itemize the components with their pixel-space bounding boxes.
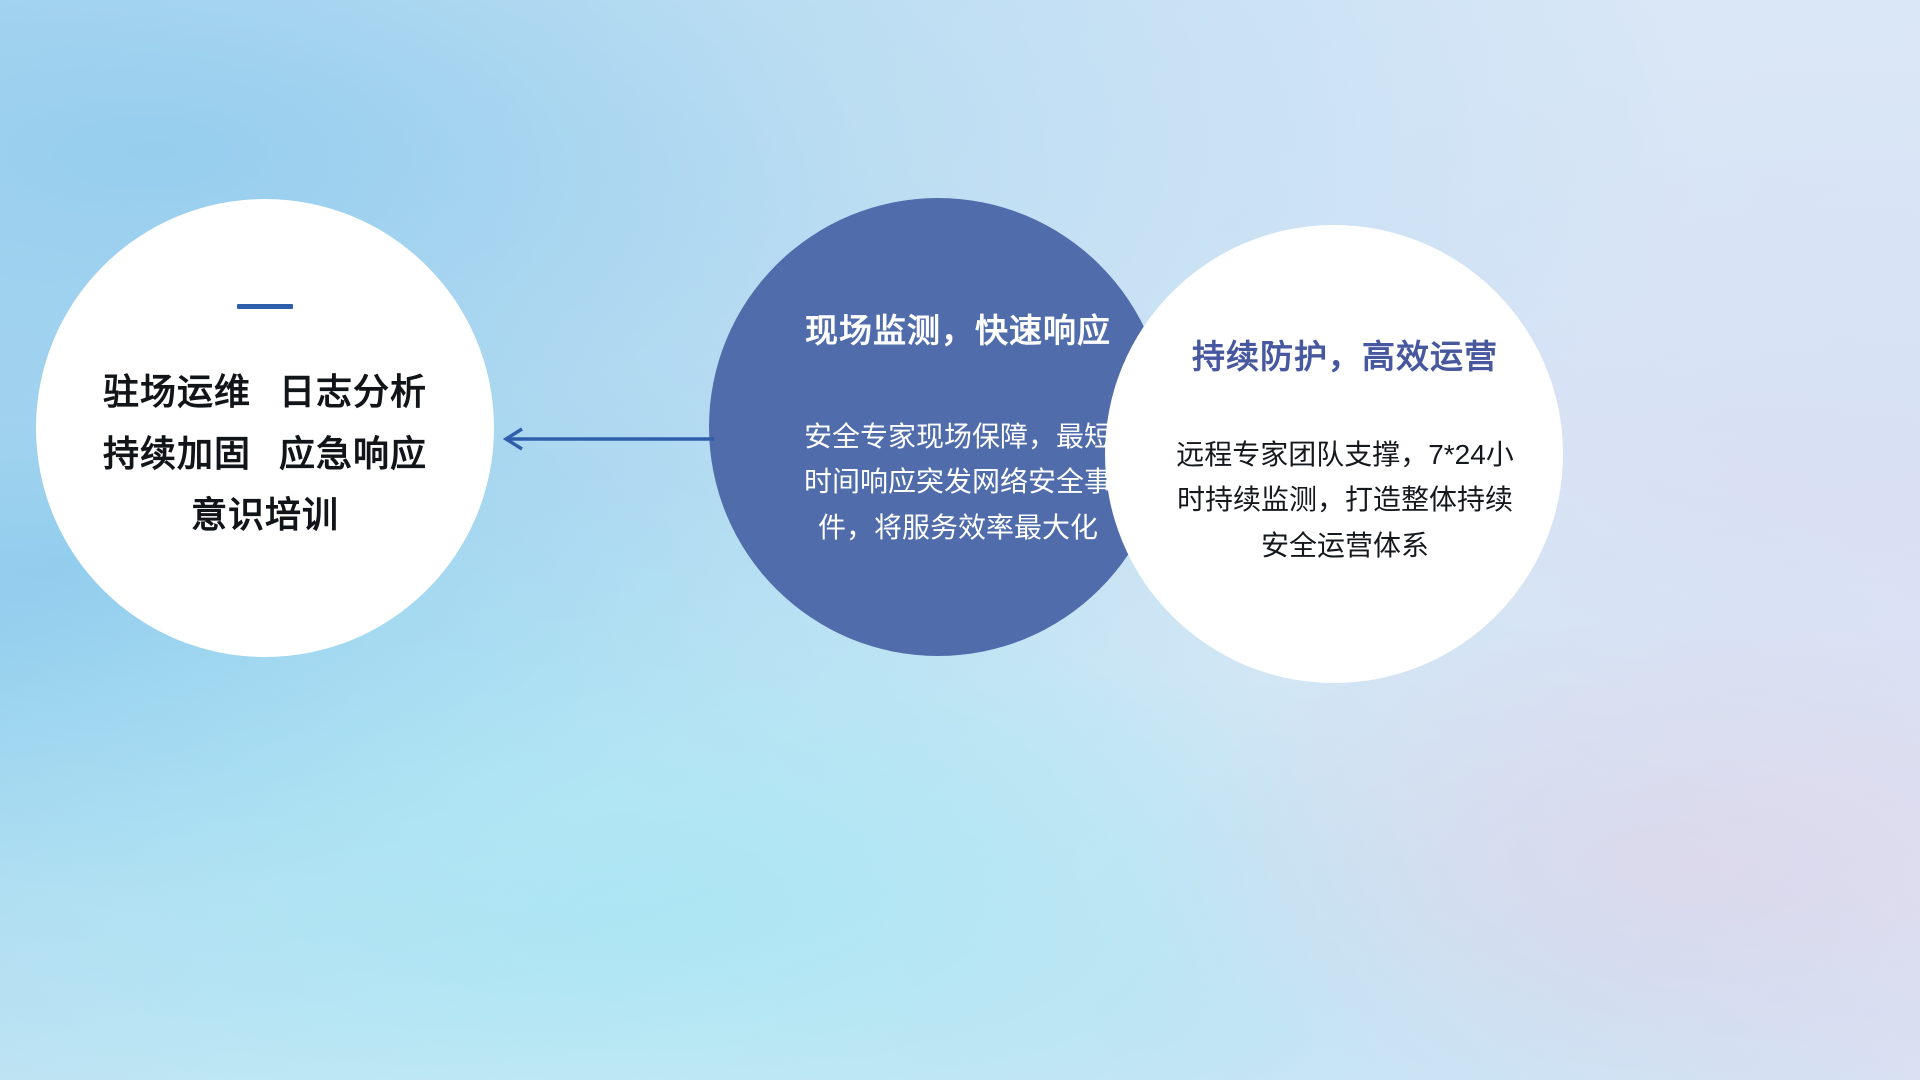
circle-continuous-protection[interactable]: 持续防护，高效运营 远程专家团队支撑，7*24小时持续监测，打造整体持续安全运营… bbox=[1105, 225, 1563, 683]
keyword-item: 日志分析 bbox=[279, 361, 427, 423]
right-circle-content: 持续防护，高效运营 远程专家团队支撑，7*24小时持续监测，打造整体持续安全运营… bbox=[1105, 330, 1563, 578]
middle-circle-content: 现场监测，快速响应 安全专家现场保障，最短时间响应突发网络安全事件，将服务效率最… bbox=[709, 304, 1167, 550]
flow-arrow-icon bbox=[493, 416, 715, 462]
middle-circle-body: 安全专家现场保障，最短时间响应突发网络安全事件，将服务效率最大化 bbox=[803, 414, 1113, 550]
keyword-item: 意识培训 bbox=[191, 484, 339, 546]
circle-service-keywords[interactable]: 驻场运维 日志分析 持续加固 应急响应 意识培训 bbox=[36, 199, 494, 657]
right-circle-body: 远程专家团队支撑，7*24小时持续监测，打造整体持续安全运营体系 bbox=[1172, 432, 1518, 568]
keyword-item: 持续加固 bbox=[103, 423, 251, 485]
keyword-row: 持续加固 应急响应 bbox=[36, 423, 494, 485]
keyword-item: 驻场运维 bbox=[103, 361, 251, 423]
divider-rule bbox=[237, 304, 293, 309]
keyword-row: 驻场运维 日志分析 bbox=[36, 361, 494, 423]
right-circle-title: 持续防护，高效运营 bbox=[1127, 330, 1563, 378]
keyword-item: 应急响应 bbox=[279, 423, 427, 485]
circle-field-monitoring[interactable]: 现场监测，快速响应 安全专家现场保障，最短时间响应突发网络安全事件，将服务效率最… bbox=[709, 198, 1167, 656]
left-circle-content: 驻场运维 日志分析 持续加固 应急响应 意识培训 bbox=[36, 304, 494, 553]
keyword-row: 意识培训 bbox=[36, 484, 494, 546]
